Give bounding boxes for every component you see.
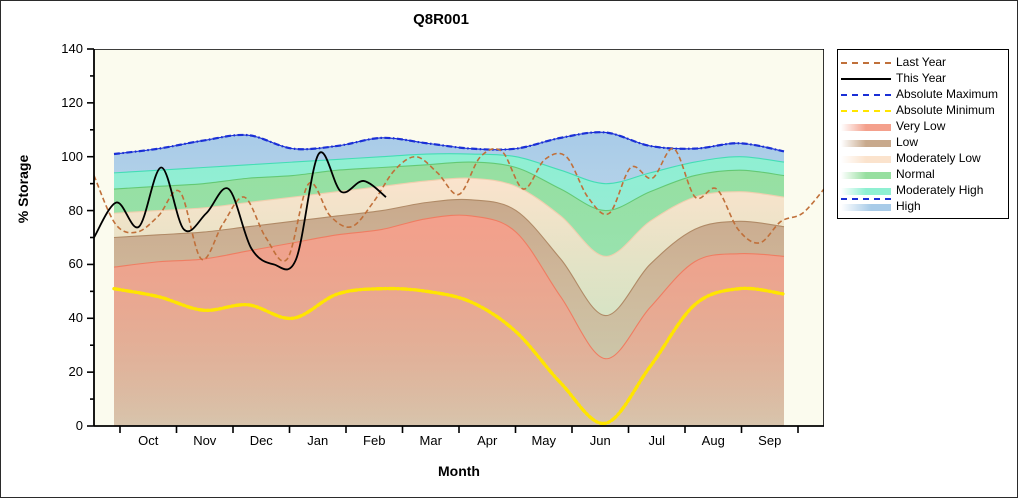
y-tick-label: 20	[41, 364, 83, 379]
legend-swatch-normal	[841, 172, 891, 179]
x-tick-label: Oct	[118, 433, 178, 448]
chart-canvas	[94, 49, 824, 426]
legend-label: High	[896, 198, 921, 214]
chart-title: Q8R001	[1, 11, 881, 28]
chart-frame: Q8R001 % Storage Month 02040608010012014…	[0, 0, 1018, 498]
legend-label: Absolute Minimum	[896, 102, 995, 118]
legend-swatch-moderately-low	[841, 156, 891, 163]
legend-label: Absolute Maximum	[896, 86, 998, 102]
chart-legend: Last YearThis YearAbsolute MaximumAbsolu…	[837, 49, 1009, 219]
y-tick-label: 0	[41, 418, 83, 433]
plot-area	[94, 49, 824, 426]
x-tick-label: May	[514, 433, 574, 448]
legend-item[interactable]: Very Low	[841, 118, 1005, 134]
x-tick-label: Apr	[457, 433, 517, 448]
legend-label: Moderately High	[896, 182, 983, 198]
legend-swatch-this-year	[841, 73, 891, 84]
legend-swatch-low	[841, 140, 891, 147]
legend-label: Normal	[896, 166, 935, 182]
legend-swatch-very-low	[841, 124, 891, 131]
y-axis-label: % Storage	[15, 79, 31, 299]
x-tick-label: Mar	[401, 433, 461, 448]
legend-swatch-absolute-minimum	[841, 105, 891, 116]
legend-item[interactable]: Absolute Minimum	[841, 102, 1005, 118]
legend-swatch-last-year	[841, 57, 891, 68]
legend-item[interactable]: Low	[841, 134, 1005, 150]
legend-item[interactable]: High	[841, 198, 1005, 214]
x-tick-label: Jan	[288, 433, 348, 448]
legend-item[interactable]: Moderately High	[841, 182, 1005, 198]
x-tick-label: Jul	[627, 433, 687, 448]
y-tick-label: 100	[41, 149, 83, 164]
legend-item[interactable]: Moderately Low	[841, 150, 1005, 166]
legend-label: Last Year	[896, 54, 946, 70]
y-tick-label: 40	[41, 310, 83, 325]
y-tick-label: 80	[41, 203, 83, 218]
legend-item[interactable]: This Year	[841, 70, 1005, 86]
legend-label: Very Low	[896, 118, 945, 134]
y-tick-label: 120	[41, 95, 83, 110]
legend-item[interactable]: Absolute Maximum	[841, 86, 1005, 102]
legend-label: Moderately Low	[896, 150, 981, 166]
x-tick-label: Aug	[683, 433, 743, 448]
legend-swatch-absolute-maximum	[841, 89, 891, 100]
x-axis-label: Month	[94, 463, 824, 479]
x-tick-label: Dec	[231, 433, 291, 448]
legend-label: Low	[896, 134, 918, 150]
x-tick-label: Sep	[740, 433, 800, 448]
legend-item[interactable]: Last Year	[841, 54, 1005, 70]
y-tick-label: 140	[41, 41, 83, 56]
legend-item[interactable]: Normal	[841, 166, 1005, 182]
legend-swatch-high	[841, 204, 891, 211]
x-tick-label: Feb	[344, 433, 404, 448]
legend-swatch-moderately-high	[841, 188, 891, 195]
y-tick-label: 60	[41, 256, 83, 271]
x-tick-label: Nov	[175, 433, 235, 448]
x-tick-label: Jun	[570, 433, 630, 448]
legend-label: This Year	[896, 70, 946, 86]
